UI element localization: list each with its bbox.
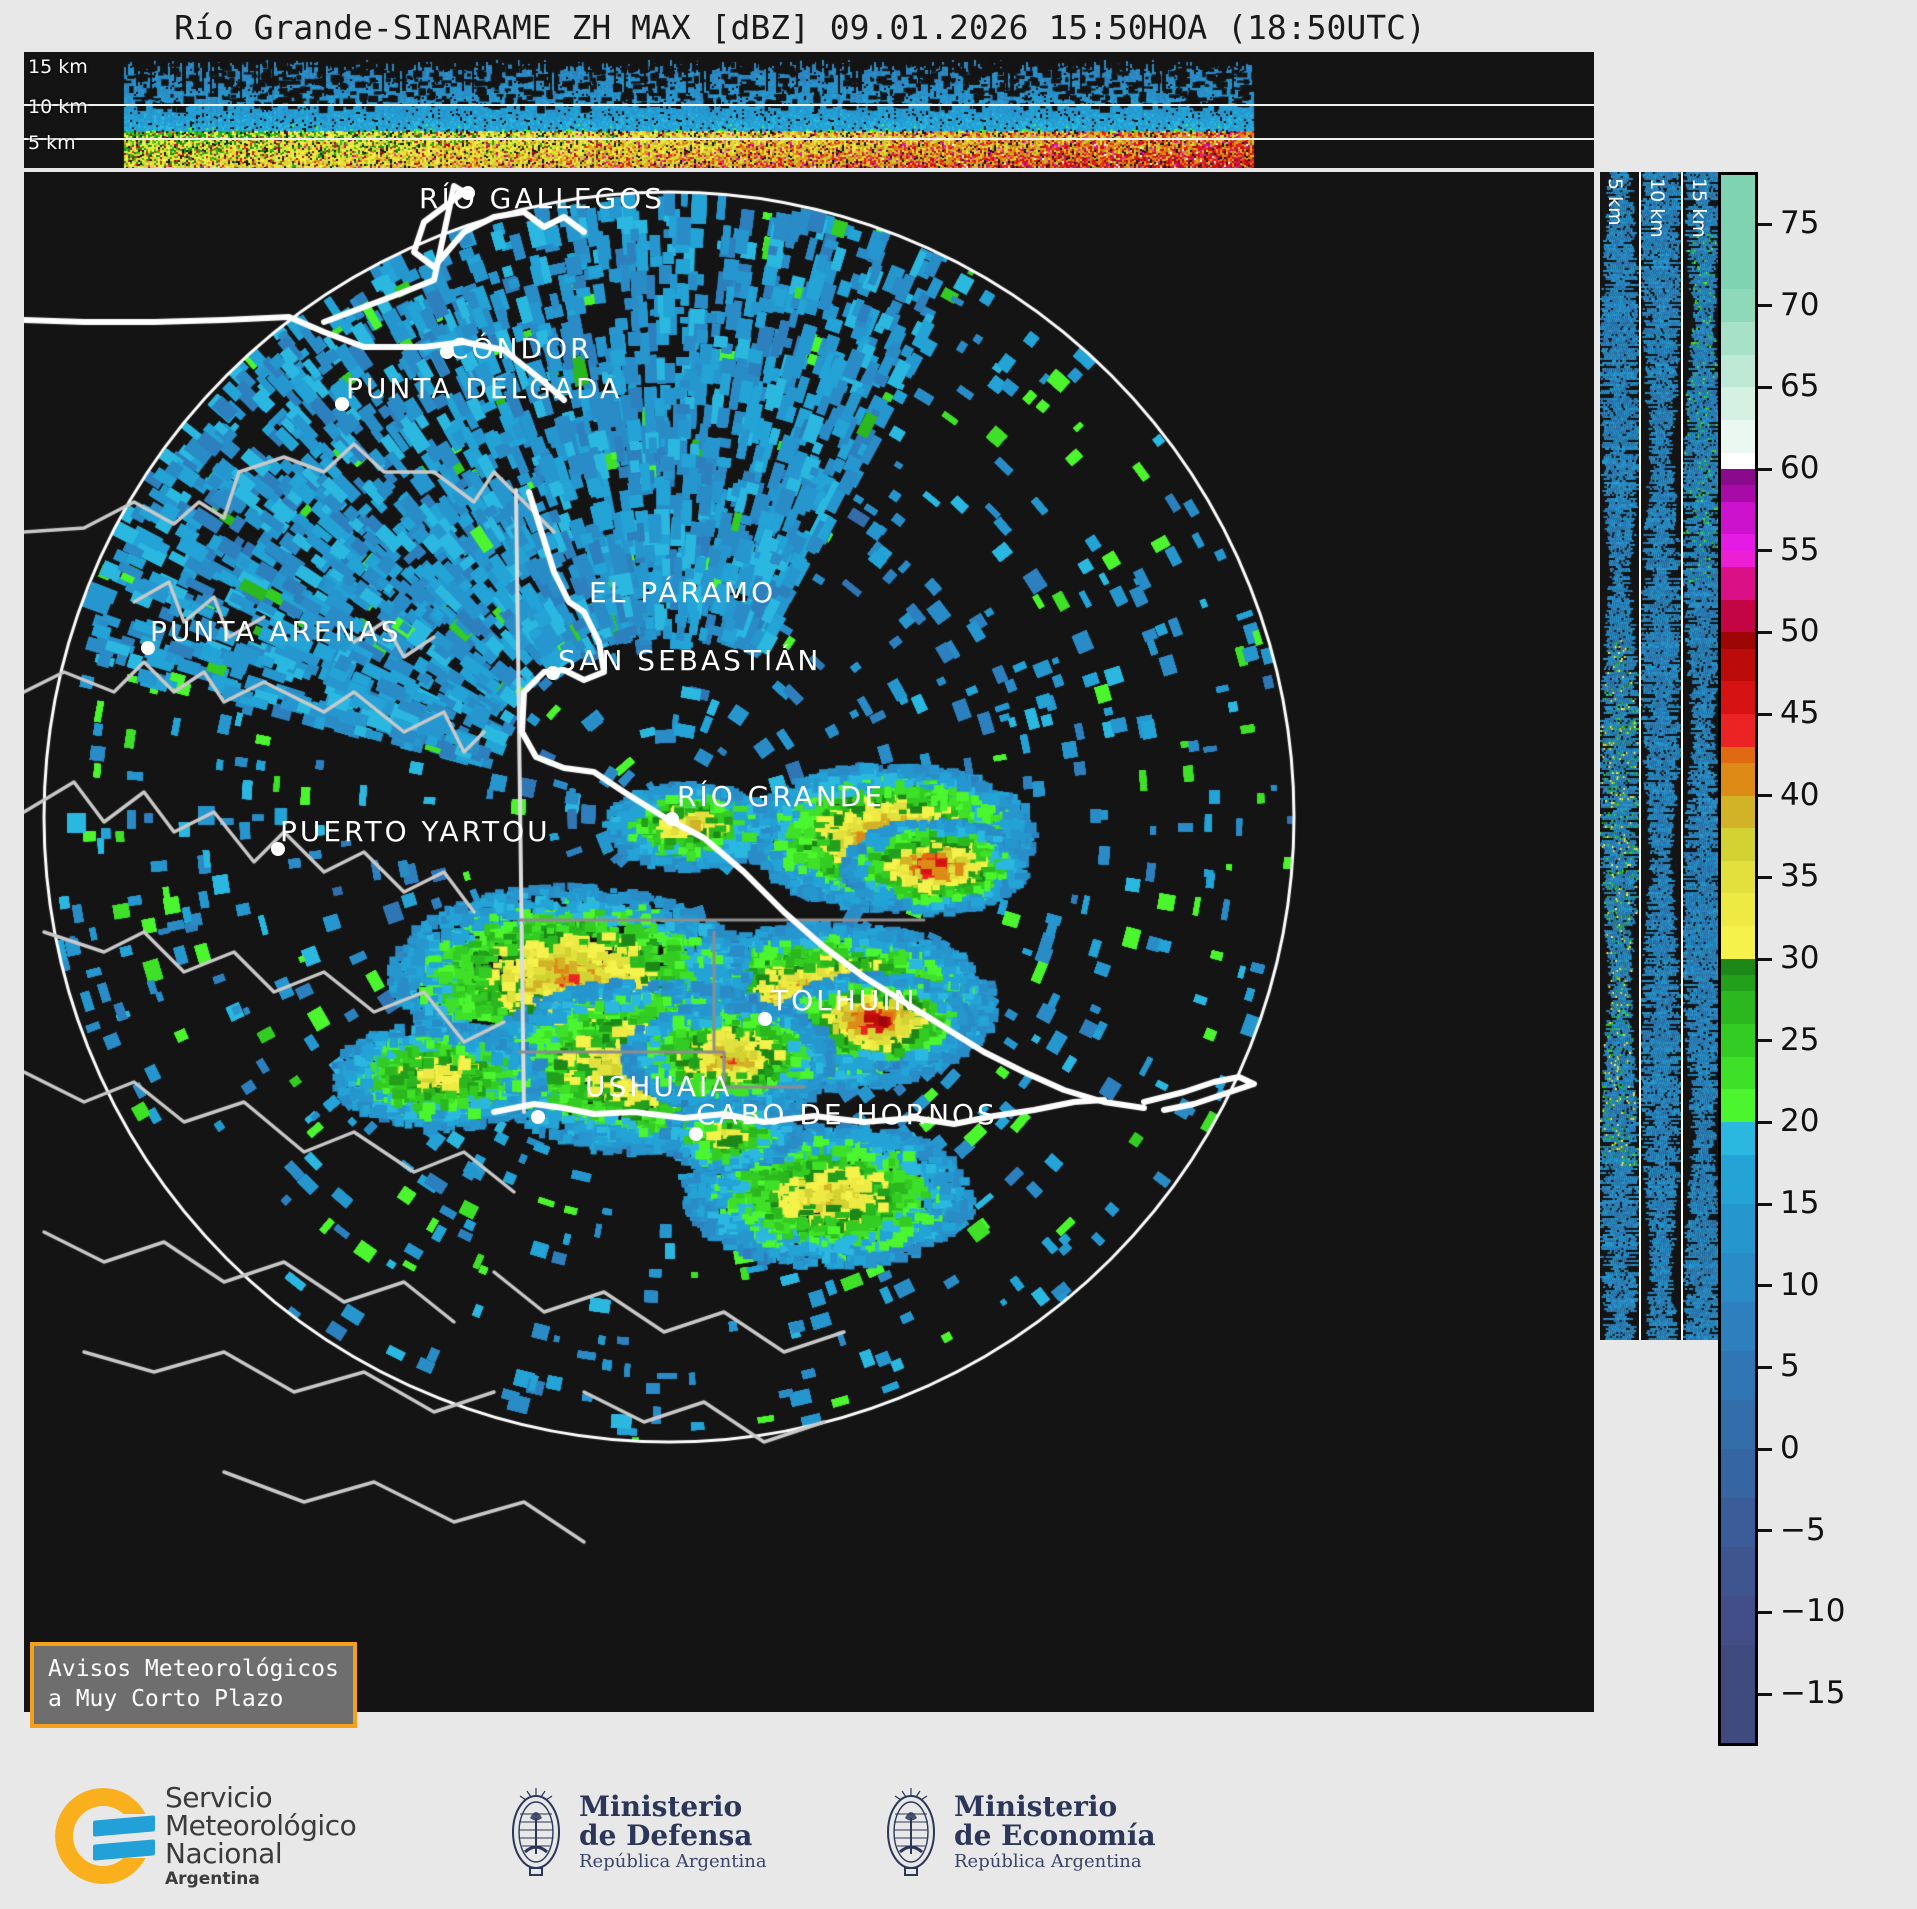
colorbar-segment <box>1721 1596 1755 1645</box>
altitude-label-15km: 15 km <box>28 56 88 78</box>
city-marker-dot <box>531 1110 545 1124</box>
city-marker-dot <box>141 641 155 655</box>
status-badge-avisos[interactable]: Avisos Meteorológicos a Muy Corto Plazo <box>30 1642 357 1728</box>
altitude-label-5km: 5 km <box>28 132 76 154</box>
colorbar-segment <box>1721 893 1755 926</box>
colorbar-segment <box>1721 1449 1755 1498</box>
smn-line-4: Argentina <box>165 1871 356 1888</box>
colorbar-segment <box>1721 387 1755 420</box>
economia-wordmark: Ministerio de Economía República Argenti… <box>954 1792 1156 1873</box>
logo-ministerio-defensa: Ministerio de Defensa República Argentin… <box>505 1784 767 1880</box>
city-marker-dot <box>335 397 349 411</box>
radar-product-page: Río Grande-SINARAME ZH MAX [dBZ] 09.01.2… <box>0 0 1917 1909</box>
colorbar-segment <box>1721 763 1755 796</box>
colorbar-segment <box>1721 567 1755 600</box>
colorbar-segment <box>1721 322 1755 355</box>
colorbar-segment <box>1721 861 1755 894</box>
smn-line-3: Nacional <box>165 1840 356 1868</box>
colorbar-tick-labels: −15−10−5051015202530354045505560657075 <box>1758 172 1908 1746</box>
colorbar-segment <box>1721 485 1755 501</box>
colorbar-segment <box>1721 1155 1755 1204</box>
page-title: Río Grande-SINARAME ZH MAX [dBZ] 09.01.2… <box>0 8 1600 47</box>
argentina-coat-of-arms-icon <box>505 1784 567 1880</box>
altitude-gridline-5km <box>24 138 1594 140</box>
colorbar-segment <box>1721 681 1755 714</box>
altitude-label-10km: 10 km <box>28 96 88 118</box>
colorbar-segment <box>1721 991 1755 1024</box>
colorbar-segment <box>1721 1498 1755 1547</box>
smn-line-2: Meteorológico <box>165 1812 356 1840</box>
strip-divider-2 <box>1681 172 1683 1340</box>
defensa-line-3: República Argentina <box>579 1853 767 1872</box>
smn-line-1: Servicio <box>165 1784 356 1812</box>
colorbar-segment <box>1721 926 1755 959</box>
argentina-coat-of-arms-icon <box>880 1784 942 1880</box>
economia-line-1: Ministerio <box>954 1792 1156 1821</box>
defensa-line-2: de Defensa <box>579 1821 767 1850</box>
colorbar-segment <box>1721 1057 1755 1090</box>
colorbar <box>1718 172 1758 1746</box>
strip-label-10km: 10 km <box>1646 178 1668 238</box>
strip-label-15km: 15 km <box>1688 178 1710 238</box>
colorbar-segment <box>1721 796 1755 829</box>
colorbar-segment <box>1721 469 1755 485</box>
radar-reflectivity-canvas <box>24 172 1594 1712</box>
logo-smn: Servicio Meteorológico Nacional Argentin… <box>55 1784 356 1888</box>
colorbar-segment <box>1721 1089 1755 1122</box>
defensa-wordmark: Ministerio de Defensa República Argentin… <box>579 1792 767 1873</box>
colorbar-segment <box>1721 453 1755 469</box>
colorbar-segment <box>1721 714 1755 747</box>
vertical-strip-5km <box>1600 172 1639 1340</box>
colorbar-segment <box>1721 1024 1755 1057</box>
radar-ppi-panel[interactable]: RÍO GALLEGOSCÓNDORPUNTA DELGADAEL PÁRAMO… <box>24 172 1594 1712</box>
colorbar-segment <box>1721 1645 1755 1694</box>
colorbar-segment <box>1721 1400 1755 1449</box>
smn-mark-icon <box>55 1788 151 1884</box>
city-marker-dot <box>440 345 454 359</box>
economia-line-2: de Economía <box>954 1821 1156 1850</box>
city-marker-dot <box>689 1127 703 1141</box>
city-marker-dot <box>758 1012 772 1026</box>
strip-divider-1 <box>1639 172 1641 1340</box>
smn-wordmark: Servicio Meteorológico Nacional Argentin… <box>165 1784 356 1888</box>
colorbar-segment <box>1721 175 1755 289</box>
colorbar-segment <box>1721 534 1755 550</box>
defensa-line-1: Ministerio <box>579 1792 767 1821</box>
city-marker-dot <box>665 812 679 826</box>
colorbar-segment <box>1721 975 1755 991</box>
altitude-gridline-10km <box>24 104 1594 106</box>
strip-label-5km: 5 km <box>1604 178 1626 226</box>
city-marker-dot <box>271 842 285 856</box>
colorbar-segment <box>1721 747 1755 763</box>
colorbar-segment <box>1721 1547 1755 1596</box>
cross-section-canvas <box>24 52 1594 168</box>
colorbar-segment <box>1721 1694 1755 1743</box>
colorbar-segment <box>1721 289 1755 322</box>
colorbar-segment <box>1721 1302 1755 1351</box>
colorbar-segment <box>1721 1253 1755 1302</box>
colorbar-segment <box>1721 502 1755 535</box>
colorbar-segment <box>1721 632 1755 648</box>
colorbar-segment <box>1721 1351 1755 1400</box>
vertical-strip-10km <box>1641 172 1681 1340</box>
vertical-cross-section-panel: 15 km 10 km 5 km <box>24 52 1594 168</box>
colorbar-segment <box>1721 355 1755 388</box>
colorbar-segment <box>1721 1122 1755 1155</box>
colorbar-segment <box>1721 959 1755 975</box>
economia-line-3: República Argentina <box>954 1853 1156 1872</box>
city-marker-dot <box>546 666 560 680</box>
warning-line-1: Avisos Meteorológicos <box>48 1654 339 1684</box>
footer-logos: Servicio Meteorológico Nacional Argentin… <box>0 1760 1917 1909</box>
city-marker-dot <box>461 186 475 200</box>
colorbar-segment <box>1721 1204 1755 1253</box>
colorbar-segment <box>1721 420 1755 453</box>
colorbar-segment <box>1721 551 1755 567</box>
vertical-strip-15km <box>1683 172 1723 1340</box>
colorbar-segment <box>1721 600 1755 633</box>
vertical-max-strips-panel: 5 km 10 km 15 km <box>1600 172 1723 1340</box>
colorbar-segment <box>1721 828 1755 861</box>
logo-ministerio-economia: Ministerio de Economía República Argenti… <box>880 1784 1156 1880</box>
warning-line-2: a Muy Corto Plazo <box>48 1684 339 1714</box>
colorbar-segment <box>1721 649 1755 682</box>
